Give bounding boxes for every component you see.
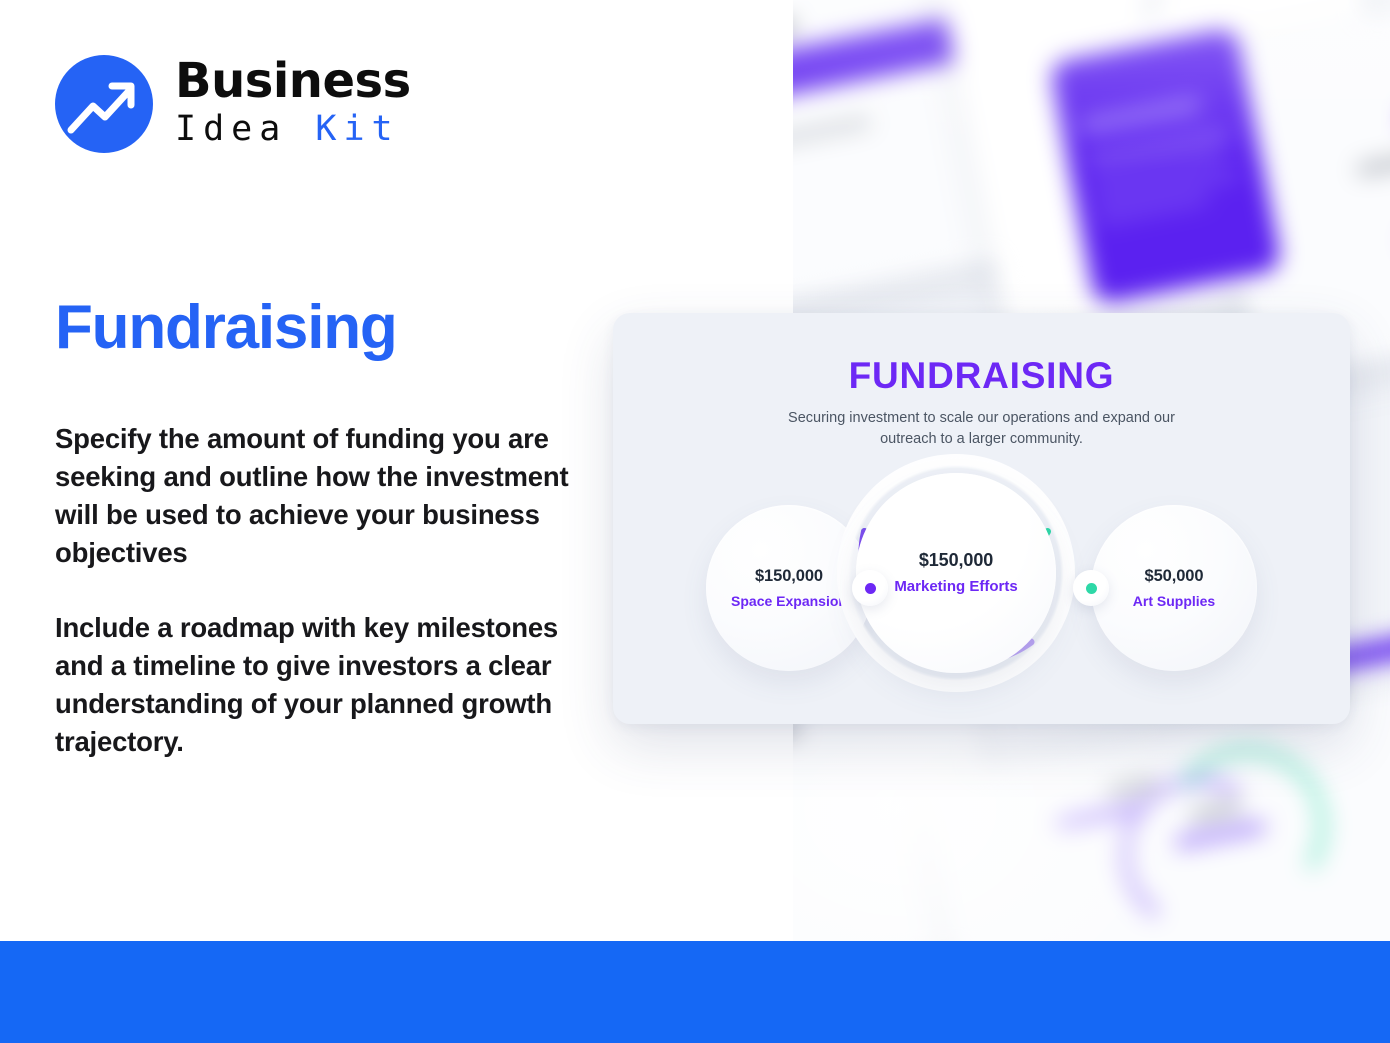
brand-name-kit: Kit — [315, 109, 399, 149]
funding-label: Art Supplies — [1133, 593, 1215, 610]
brand-name-line2: Idea Kit — [175, 108, 411, 152]
funding-label: Marketing Efforts — [894, 578, 1017, 596]
growth-arrow-chart-icon — [55, 55, 153, 153]
card-title: FUNDRAISING — [613, 355, 1350, 397]
brand-wordmark: Business Idea Kit — [175, 57, 411, 152]
card-subtitle: Securing investment to scale our operati… — [772, 408, 1192, 449]
connector-node-right — [1073, 570, 1109, 606]
funding-item-art-supplies[interactable]: $50,000 Art Supplies — [1091, 505, 1257, 671]
funding-breakdown-diagram: $150,000 Space Expansion — [613, 473, 1350, 703]
brand-logo[interactable]: Business Idea Kit — [55, 55, 411, 153]
green-dot-icon — [1086, 583, 1097, 594]
purple-dot-icon — [865, 583, 876, 594]
brand-name-line1: Business — [175, 57, 411, 105]
funding-amount: $50,000 — [1145, 567, 1204, 587]
funding-item-marketing-efforts[interactable]: $150,000 Marketing Efforts — [856, 473, 1056, 673]
body-paragraph-1: Specify the amount of funding you are se… — [55, 420, 575, 572]
connector-node-left — [852, 570, 888, 606]
slide-page: Business Idea Kit Fundraising Specify th… — [0, 0, 1390, 1043]
page-title: Fundraising — [55, 295, 397, 360]
body-paragraph-2: Include a roadmap with key milestones an… — [55, 609, 575, 761]
brand-name-idea: Idea — [175, 109, 287, 149]
fundraising-preview-card[interactable]: FUNDRAISING Securing investment to scale… — [613, 313, 1350, 724]
funding-label: Space Expansion — [731, 593, 847, 610]
funding-amount: $150,000 — [919, 550, 993, 572]
funding-amount: $150,000 — [755, 567, 823, 587]
footer-bar — [0, 941, 1390, 1043]
